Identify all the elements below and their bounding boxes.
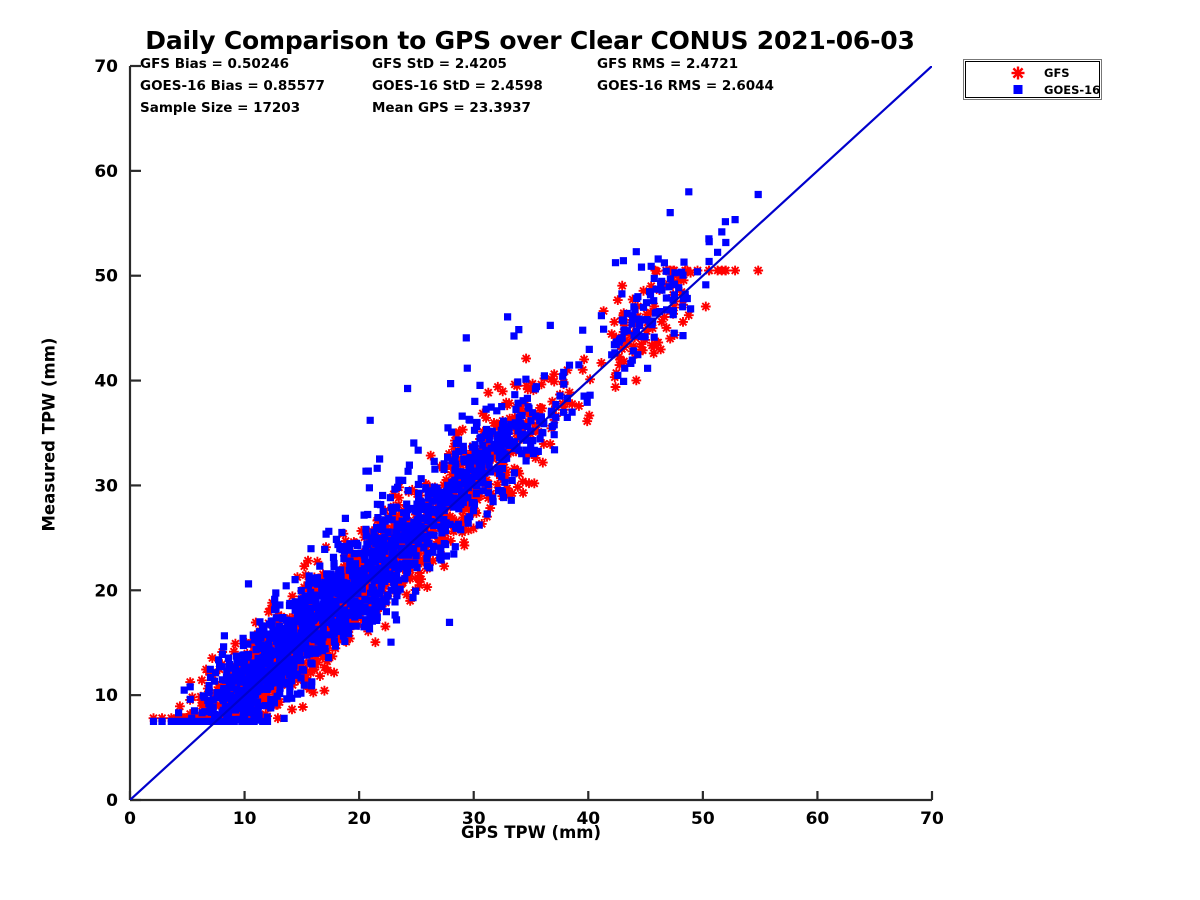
legend-label-gfs: GFS [1044, 66, 1070, 80]
x-axis-ticks [130, 791, 932, 800]
square-icon [1006, 81, 1030, 99]
figure-canvas: Daily Comparison to GPS over Clear CONUS… [0, 0, 1200, 900]
legend-frame: GFS GOES-16 [965, 61, 1100, 98]
y-axis-label: Measured TPW (mm) [40, 285, 59, 585]
scatter-plot: 010203040506070 010203040506070 [0, 0, 1200, 900]
y-tick-label: 40 [94, 372, 118, 392]
asterisk-icon [1006, 64, 1030, 82]
y-tick-label: 70 [94, 57, 118, 77]
y-axis-tick-labels: 010203040506070 [94, 57, 118, 811]
y-axis-ticks [130, 66, 141, 800]
y-tick-label: 30 [94, 476, 118, 496]
legend-item-gfs[interactable]: GFS [966, 64, 1099, 82]
y-tick-label: 20 [94, 581, 118, 601]
y-tick-label: 10 [94, 686, 118, 706]
chart-legend: GFS GOES-16 [963, 59, 1102, 100]
y-tick-label: 60 [94, 162, 118, 182]
y-tick-label: 0 [106, 791, 118, 811]
one-to-one-reference-line [130, 66, 932, 800]
x-axis-label: GPS TPW (mm) [130, 823, 932, 842]
y-tick-label: 50 [94, 267, 118, 287]
legend-label-goes16: GOES-16 [1044, 83, 1100, 97]
legend-item-goes16[interactable]: GOES-16 [966, 81, 1099, 99]
